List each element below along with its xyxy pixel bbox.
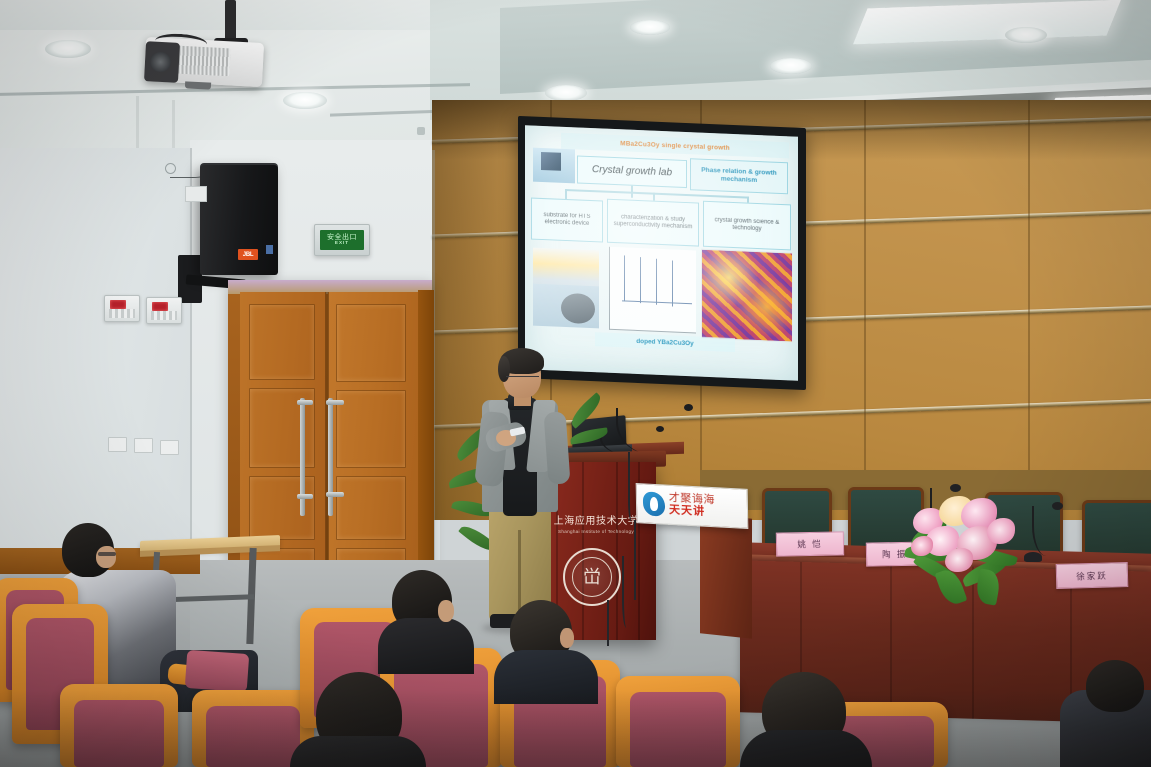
seat-cushion <box>74 700 164 767</box>
ceiling-downlight-icon <box>630 20 670 35</box>
slide-connector <box>565 189 567 199</box>
microphone-base <box>1024 552 1042 562</box>
seat-pad <box>185 650 249 692</box>
projector-mount-pole <box>225 0 236 42</box>
crest-glyph: 峃 <box>583 568 601 586</box>
crest-inner-ring: 峃 <box>572 557 612 597</box>
control-panel-display <box>152 302 168 311</box>
control-panel-keypad[interactable] <box>151 311 177 320</box>
projector-foot <box>185 81 211 89</box>
auditorium-lecture-scene: MBa2Cu3Oy single crystal growth Crystal … <box>0 0 1151 767</box>
door-push-bar[interactable] <box>326 400 344 405</box>
seat-cushion <box>630 692 726 767</box>
university-crest-icon: 峃 <box>563 548 621 606</box>
wall-socket[interactable] <box>185 186 207 202</box>
slide-main-box: Crystal growth lab <box>577 155 687 188</box>
flower-arrangement <box>905 492 1023 604</box>
banner-logo-icon <box>643 491 665 516</box>
microphone-head-icon <box>1052 502 1063 510</box>
audience-person-shoulders <box>740 730 872 767</box>
floor-cable <box>607 600 617 646</box>
banner-line2: 天天讲 <box>669 505 715 519</box>
slide-title-bar: MBa2Cu3Oy single crystal growth <box>561 133 789 159</box>
slide-column-label: crystal growth science & technology <box>704 216 790 235</box>
door-handle-right[interactable] <box>328 398 333 516</box>
microphone-head-icon <box>684 404 693 411</box>
audience-glasses-icon <box>98 552 116 556</box>
jbl-logo-icon: JBL <box>238 249 258 260</box>
ceiling-downlight-icon <box>283 92 327 109</box>
name-card-label: 姚 恺 <box>797 538 823 550</box>
ceiling-downlight-icon <box>1005 27 1047 43</box>
audience-person-ear <box>438 600 454 622</box>
slide-figure-graph <box>609 247 696 334</box>
podium-university-cn: 上海应用技术大学 <box>554 512 639 527</box>
wall-control-panel[interactable] <box>104 295 140 322</box>
ceiling-downlight-icon <box>45 40 91 58</box>
slide-phase-label: Phase relation & growth mechanism <box>691 166 787 186</box>
exit-sign-face: 安全出口 EXIT <box>320 230 364 250</box>
door-push-bar[interactable] <box>297 400 313 405</box>
audience-person-shoulders <box>290 736 426 767</box>
wall-seam <box>190 148 192 568</box>
slide-figure-afm-micrograph <box>701 249 793 343</box>
slide-caption: doped YBa2Cu3Oy <box>636 337 693 346</box>
wall-panel-seam <box>1028 100 1030 520</box>
ceiling-downlight-icon <box>770 58 812 74</box>
door-push-bar[interactable] <box>297 494 313 499</box>
audience-person-shoulders <box>494 650 598 704</box>
wall-outlet[interactable] <box>160 440 179 455</box>
slide-column-box: crystal growth science & technology <box>703 201 791 251</box>
speaker-brand-label: JBL <box>243 252 253 258</box>
wall-outlet[interactable] <box>134 438 153 453</box>
microphone-head-icon <box>656 426 664 432</box>
event-banner: 才聚诲海 天天讲 <box>636 483 749 529</box>
slide-main-label: Crystal growth lab <box>592 164 672 180</box>
slide-column-box: characterization & study superconductivi… <box>607 199 699 247</box>
exit-sign: 安全出口 EXIT <box>314 224 370 256</box>
speaker-glasses-icon <box>506 368 539 377</box>
seat-cushion <box>206 706 300 767</box>
speaker-badge <box>266 245 273 254</box>
audience-person-ear <box>560 628 574 648</box>
podium-cable <box>634 520 648 600</box>
control-panel-display <box>110 300 126 309</box>
sprinkler-icon <box>417 127 425 135</box>
projection-screen[interactable]: MBa2Cu3Oy single crystal growth Crystal … <box>525 125 798 380</box>
slide-wafer-icon <box>561 293 595 324</box>
name-card: 姚 恺 <box>776 531 844 556</box>
wall-outlet[interactable] <box>108 437 127 452</box>
microphone-head-icon <box>950 484 961 492</box>
wall-panel-seam <box>864 100 866 520</box>
ceiling-downlight-icon <box>545 85 587 101</box>
name-card-label: 徐家跃 <box>1076 569 1108 582</box>
slide-title: MBa2Cu3Oy single crystal growth <box>620 140 730 152</box>
ceiling-rod <box>136 96 139 156</box>
audience-person-head <box>1086 660 1144 712</box>
door-push-bar[interactable] <box>326 492 344 497</box>
audience-person-face <box>96 546 116 568</box>
podium-university-en: Shanghai Institute of Technology <box>558 529 634 534</box>
control-panel-keypad[interactable] <box>109 309 135 318</box>
left-wall <box>0 148 196 568</box>
banner-stand <box>700 513 752 638</box>
wall-control-panel[interactable] <box>146 297 182 324</box>
slide-connector <box>653 193 655 201</box>
slide-column-box: substrate for HTS electronic device <box>531 198 603 243</box>
podium-name-en: Shanghai Institute of Technology <box>546 526 646 536</box>
slide-column-label: substrate for HTS electronic device <box>532 211 602 229</box>
slide-logo-icon <box>541 152 561 171</box>
slide-column-label: characterization & study superconductivi… <box>608 213 698 232</box>
exit-sign-label-en: EXIT <box>335 241 349 246</box>
podium-cable <box>622 556 633 628</box>
slide-phase-box: Phase relation & growth mechanism <box>690 158 788 194</box>
banner-text-group: 才聚诲海 天天讲 <box>669 493 715 519</box>
audience-person-shoulders <box>378 618 474 674</box>
name-card: 徐家跃 <box>1056 562 1129 589</box>
